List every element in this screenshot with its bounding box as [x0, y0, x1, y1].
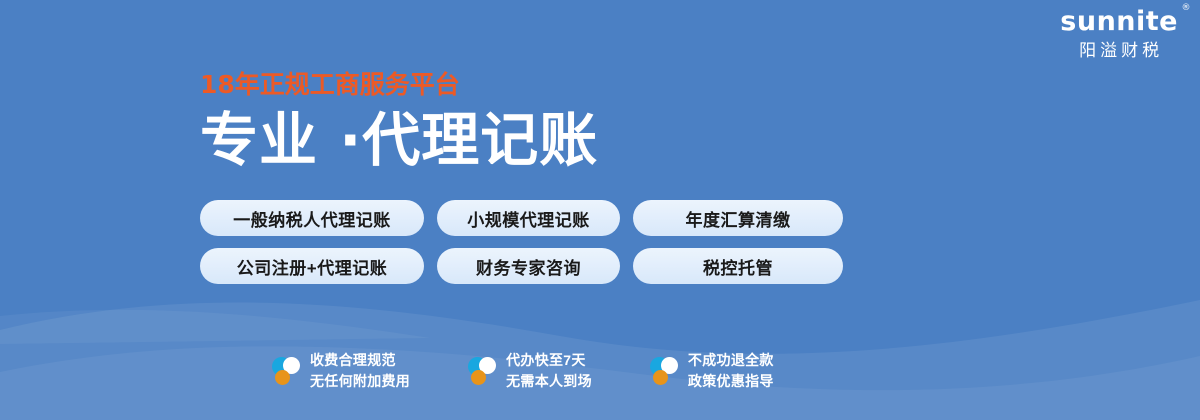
feature-line-2: 政策优惠指导 [688, 373, 774, 389]
service-pill-tax-control-hosting[interactable]: 税控托管 [633, 248, 843, 284]
feature-text-pricing: 收费合理规范 无任何附加费用 [310, 350, 410, 392]
brand-chinese-name: 阳溢财税 [1060, 42, 1178, 59]
service-pill-annual-settlement[interactable]: 年度汇算清缴 [633, 200, 843, 236]
service-pill-general-taxpayer[interactable]: 一般纳税人代理记账 [200, 200, 424, 236]
feature-item-speed: 代办快至7天 无需本人到场 [468, 350, 592, 392]
feature-text-speed: 代办快至7天 无需本人到场 [506, 350, 592, 392]
brand-logo: sunnite ® 阳溢财税 [1060, 8, 1178, 59]
service-pill-group: 一般纳税人代理记账 小规模代理记账 年度汇算清缴 公司注册+代理记账 财务专家咨… [200, 200, 843, 296]
feature-item-pricing: 收费合理规范 无任何附加费用 [272, 350, 410, 392]
service-pill-row-1: 一般纳税人代理记账 小规模代理记账 年度汇算清缴 [200, 200, 843, 236]
promo-banner: sunnite ® 阳溢财税 18年正规工商服务平台 专业 ·代理记账 一般纳税… [0, 0, 1200, 420]
service-pill-small-scale[interactable]: 小规模代理记账 [437, 200, 620, 236]
brand-wordmark-text: sunnite [1060, 6, 1178, 37]
circles-bullet-icon [650, 354, 678, 388]
service-pill-expert-consulting[interactable]: 财务专家咨询 [437, 248, 620, 284]
feature-text-guarantee: 不成功退全款 政策优惠指导 [688, 350, 774, 392]
service-pill-row-2: 公司注册+代理记账 财务专家咨询 税控托管 [200, 248, 843, 284]
feature-line-1: 收费合理规范 [310, 352, 396, 368]
service-pill-company-registration[interactable]: 公司注册+代理记账 [200, 248, 424, 284]
feature-line-2: 无需本人到场 [506, 373, 592, 389]
registered-trademark-icon: ® [1182, 4, 1192, 13]
feature-item-guarantee: 不成功退全款 政策优惠指导 [650, 350, 774, 392]
hero-headline: 专业 ·代理记账 [200, 110, 598, 171]
feature-line-2: 无任何附加费用 [310, 373, 410, 389]
circles-bullet-icon [468, 354, 496, 388]
brand-wordmark: sunnite ® [1060, 8, 1178, 35]
feature-line-1: 不成功退全款 [688, 352, 774, 368]
circles-bullet-icon [272, 354, 300, 388]
feature-strip: 收费合理规范 无任何附加费用 代办快至7天 无需本人到场 不成功退全款 [272, 350, 774, 392]
hero-text-group: 18年正规工商服务平台 专业 ·代理记账 [200, 72, 598, 171]
hero-eyebrow: 18年正规工商服务平台 [200, 72, 598, 97]
feature-line-1: 代办快至7天 [506, 352, 586, 368]
